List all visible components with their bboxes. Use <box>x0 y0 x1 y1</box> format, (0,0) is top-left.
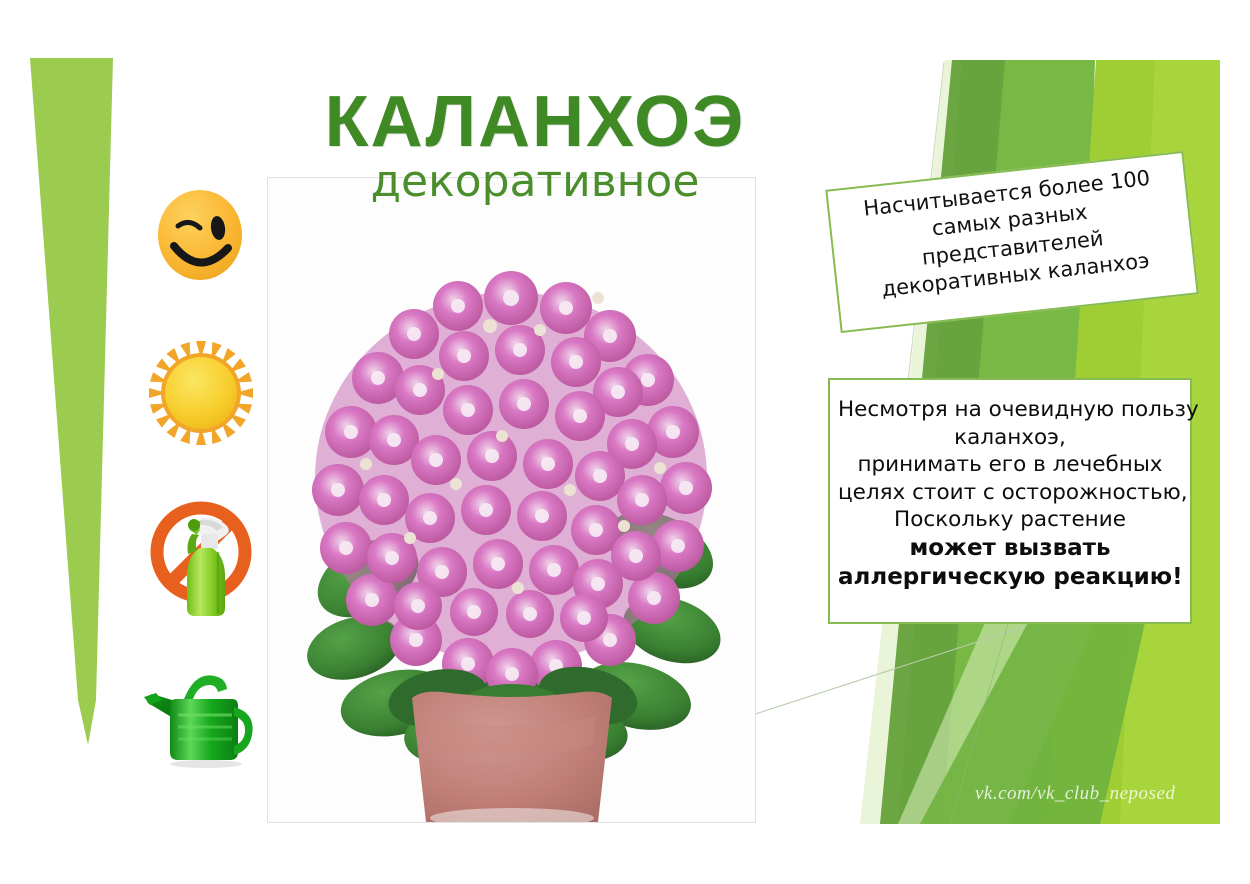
slide-root: КАЛАНХОЭ декоративное Насчитывается боле… <box>0 0 1250 884</box>
sun-icon <box>138 335 288 475</box>
callout-line: принимать его в лечебных <box>838 451 1182 479</box>
callout-line-emphasis: аллергическую реакцию! <box>838 563 1182 592</box>
watermark: vk.com/vk_club_neposed <box>975 783 1175 805</box>
left-green-wedge <box>30 58 113 745</box>
page-title: КАЛАНХОЭ декоративное <box>300 86 770 204</box>
callout-line: каланхоэ, <box>838 424 1182 452</box>
title-subtitle: декоративное <box>300 160 770 204</box>
title-main: КАЛАНХОЭ <box>300 86 770 158</box>
kalanchoe-plant-photo <box>267 177 756 823</box>
callout-species-count: Насчитывается более 100 самых разных пре… <box>825 151 1198 333</box>
winking-smiley-icon <box>138 180 288 320</box>
no-spraying-icon <box>138 490 288 630</box>
callout-line: целях стоит с осторожностью, <box>838 479 1182 507</box>
callout-line-emphasis: может вызвать <box>838 534 1182 563</box>
callout-line: Несмотря на очевидную пользу <box>838 396 1182 424</box>
callout-line: Поскольку растение <box>838 506 1182 534</box>
care-icon-column <box>138 180 288 800</box>
plant-pot <box>412 692 612 822</box>
watering-can-icon <box>138 645 288 785</box>
callout-allergy-warning: Несмотря на очевидную пользу каланхоэ, п… <box>828 378 1192 624</box>
